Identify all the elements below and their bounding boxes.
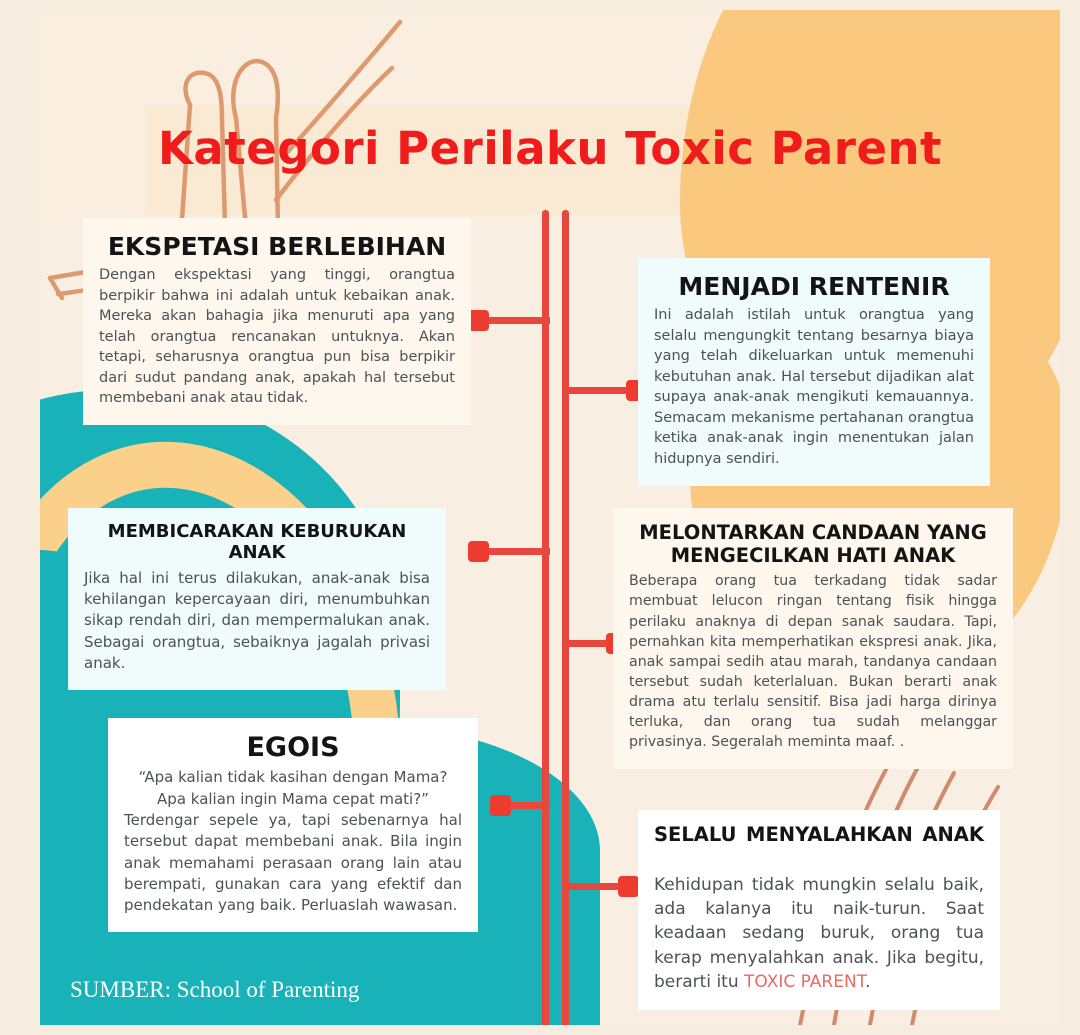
card-inner-panel: MELONTARKAN CANDAAN YANG MENGECILKAN HAT…: [613, 508, 1013, 769]
card-heading: EGOIS: [124, 732, 462, 763]
card-quote-text: “Apa kalian tidak kasihan dengan Mama? A…: [124, 767, 462, 810]
card-egois: EGOIS “Apa kalian tidak kasihan dengan M…: [108, 718, 478, 932]
card-body-text: Jika hal ini terus dilakukan, anak-anak …: [84, 568, 430, 674]
connector-spine-right: [562, 210, 569, 1025]
card-menjadi-rentenir: MENJADI RENTENIR Ini adalah istilah untu…: [638, 258, 990, 486]
card-heading: EKSPETASI BERLEBIHAN: [99, 232, 455, 261]
connector-node-ekspetasi: [468, 310, 489, 331]
card-membicarakan-keburukan-anak: MEMBICARAKAN KEBURUKAN ANAK Jika hal ini…: [68, 508, 446, 690]
connector-spine-left: [542, 210, 549, 1025]
card-selalu-menyalahkan-anak: SELALU MENYALAHKAN ANAK Kehidupan tidak …: [638, 810, 1000, 1010]
card-inner-panel: EKSPETASI BERLEBIHAN Dengan ekspektasi y…: [83, 218, 471, 425]
card-heading: MEMBICARAKAN KEBURUKAN ANAK: [84, 522, 430, 564]
toxic-parent-highlight: TOXIC PARENT: [744, 972, 865, 992]
source-credit: SUMBER: School of Parenting: [70, 977, 359, 1003]
card-body-text: Terdengar sepele ya, tapi sebenarnya hal…: [124, 810, 462, 916]
card-heading: MENJADI RENTENIR: [654, 272, 974, 301]
card-body-text: Beberapa orang tua terkadang tidak sadar…: [629, 571, 997, 752]
card-heading: SELALU MENYALAHKAN ANAK: [654, 824, 984, 869]
card-ekspetasi-berlebihan: EKSPETASI BERLEBIHAN Dengan ekspektasi y…: [83, 218, 471, 425]
card-inner-panel: MENJADI RENTENIR Ini adalah istilah untu…: [638, 258, 990, 486]
artboard: Kategori Perilaku Toxic Parent EKSPETASI…: [40, 10, 1060, 1025]
connector-node-membicarakan: [468, 541, 489, 562]
card-inner-panel: EGOIS “Apa kalian tidak kasihan dengan M…: [108, 718, 478, 932]
connector-node-menyalahkan: [618, 876, 639, 897]
connector-node-egois: [490, 795, 511, 816]
card-heading: MELONTARKAN CANDAAN YANG MENGECILKAN HAT…: [629, 522, 997, 567]
card-body-text: Dengan ekspektasi yang tinggi, orangtua …: [99, 265, 455, 409]
card-melontarkan-candaan: MELONTARKAN CANDAAN YANG MENGECILKAN HAT…: [613, 508, 1013, 769]
card-body-after: .: [865, 972, 870, 992]
card-body-text: Kehidupan tidak mungkin selalu baik, ada…: [654, 873, 984, 994]
card-inner-panel: MEMBICARAKAN KEBURUKAN ANAK Jika hal ini…: [68, 508, 446, 690]
card-body-text: Ini adalah istilah untuk orangtua yang s…: [654, 305, 974, 470]
page-title: Kategori Perilaku Toxic Parent: [40, 122, 1060, 175]
infographic-poster: Kategori Perilaku Toxic Parent EKSPETASI…: [0, 0, 1080, 1035]
card-inner-panel: SELALU MENYALAHKAN ANAK Kehidupan tidak …: [638, 810, 1000, 1010]
